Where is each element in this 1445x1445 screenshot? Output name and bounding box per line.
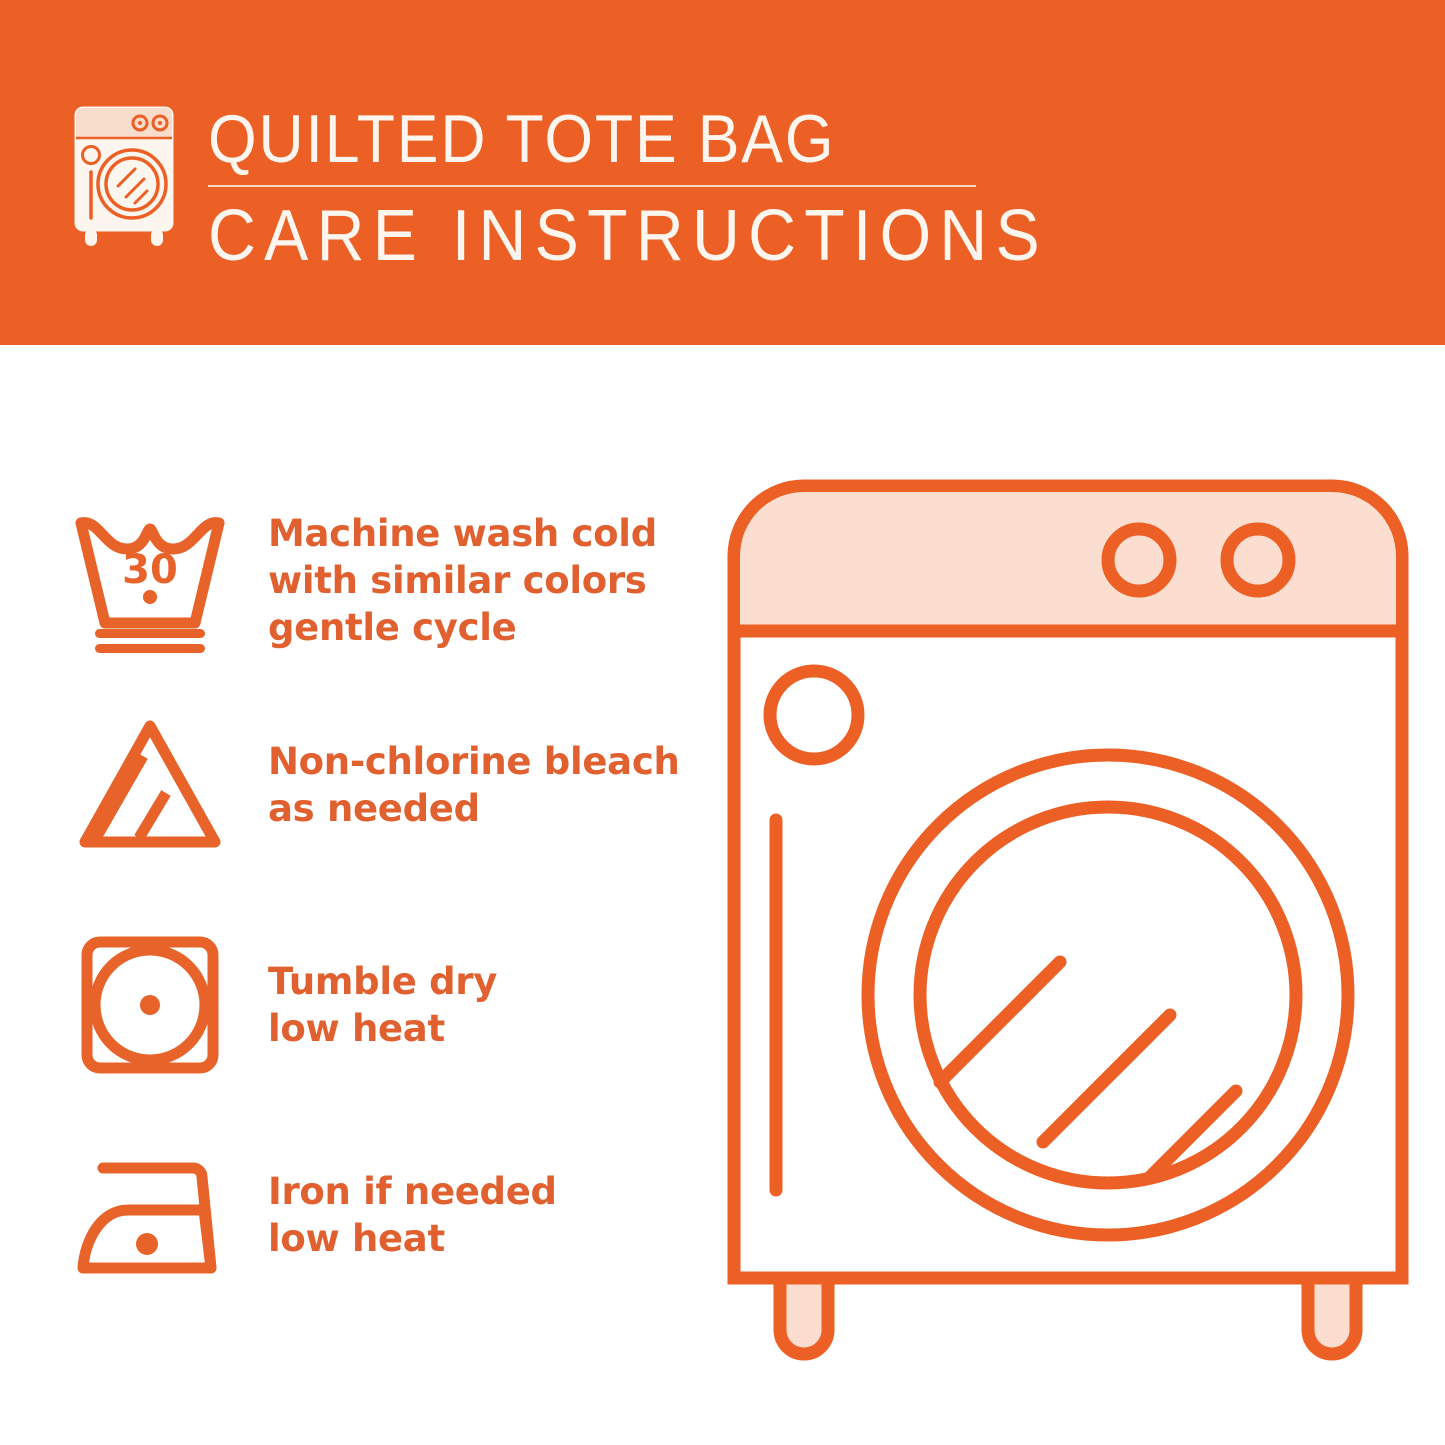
care-row-bleach: Non-chlorine bleach as needed [0, 705, 700, 865]
care-label-line: low heat [268, 1005, 497, 1052]
leg-left [780, 1278, 828, 1354]
care-instruction-list: 30 Machine wash cold with similar colors… [0, 345, 700, 1445]
iron-low-heat-icon [60, 1135, 240, 1295]
page-subtitle: CARE INSTRUCTIONS [208, 197, 1128, 275]
care-label-line: Non-chlorine bleach [268, 738, 680, 785]
care-row-machine-wash: 30 Machine wash cold with similar colors… [0, 495, 700, 665]
care-label-line: low heat [268, 1215, 557, 1262]
care-label-bleach: Non-chlorine bleach as needed [268, 738, 680, 832]
wash-tub-30-icon: 30 [60, 500, 240, 660]
care-label-line: Tumble dry [268, 958, 497, 1005]
header-banner: QUILTED TOTE BAG CARE INSTRUCTIONS [0, 0, 1445, 345]
care-label-line: Iron if needed [268, 1168, 557, 1215]
tumble-dry-low-icon [60, 925, 240, 1085]
care-instructions-page: QUILTED TOTE BAG CARE INSTRUCTIONS 30 [0, 0, 1445, 1445]
care-row-tumble-dry: Tumble dry low heat [0, 925, 700, 1085]
care-label-line: Machine wash cold [268, 510, 657, 557]
header-title-block: QUILTED TOTE BAG CARE INSTRUCTIONS [208, 103, 1208, 275]
top-control-panel [740, 492, 1396, 631]
svg-text:30: 30 [122, 547, 178, 593]
care-label-tumble-dry: Tumble dry low heat [268, 958, 497, 1052]
care-label-machine-wash: Machine wash cold with similar colors ge… [268, 510, 657, 651]
non-chlorine-bleach-triangle-icon [60, 705, 240, 865]
washing-machine-icon [62, 100, 186, 252]
care-label-line: with similar colors [268, 557, 657, 604]
page-title: QUILTED TOTE BAG [208, 103, 1128, 175]
care-label-iron: Iron if needed low heat [268, 1168, 557, 1262]
care-row-iron: Iron if needed low heat [0, 1135, 700, 1295]
title-divider [208, 185, 976, 187]
washing-machine-illustration [718, 470, 1418, 1370]
leg-right [1308, 1278, 1356, 1354]
care-label-line: as needed [268, 785, 680, 832]
care-label-line: gentle cycle [268, 604, 657, 651]
